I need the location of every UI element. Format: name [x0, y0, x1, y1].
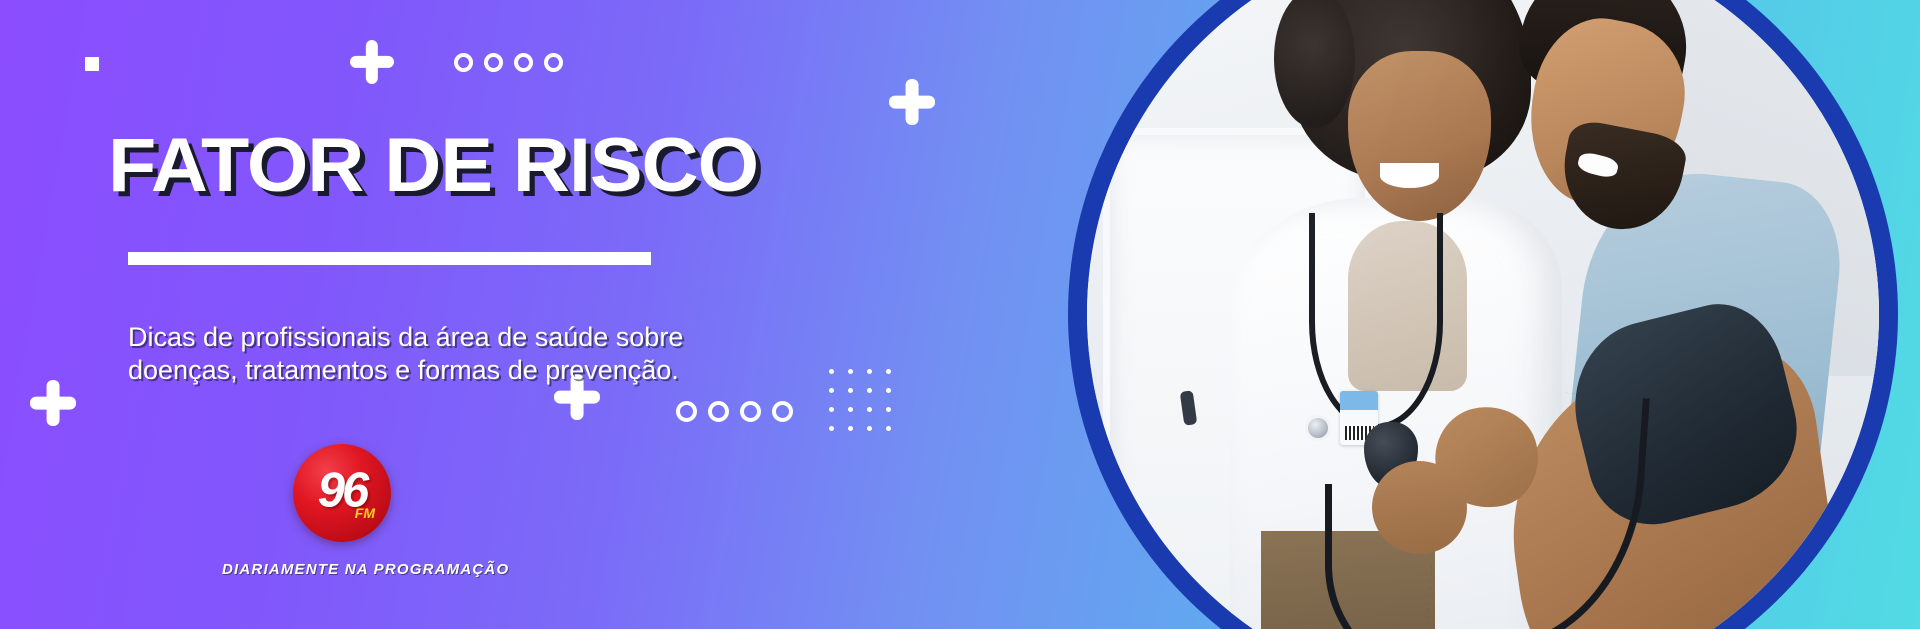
page-title: FATOR DE RISCO	[108, 128, 758, 204]
logo-suffix: FM	[355, 506, 375, 520]
doctor-smile	[1380, 163, 1439, 188]
radio-station-logo[interactable]: 96 FM DIARIAMENTE NA PROGRAMAÇÃO	[222, 444, 462, 578]
banner-content: FATOR DE RISCO Dicas de profissionais da…	[0, 0, 900, 629]
health-risk-factor-banner: FATOR DE RISCO Dicas de profissionais da…	[0, 0, 1920, 629]
logo-disc: 96 FM	[293, 444, 391, 542]
logo-tagline: DIARIAMENTE NA PROGRAMAÇÃO	[222, 561, 462, 578]
photo-panel	[1040, 0, 1920, 629]
stethoscope-bell	[1305, 415, 1331, 441]
clinic-photo	[1087, 0, 1879, 629]
photo-frame	[1087, 0, 1879, 629]
title-underline	[128, 252, 651, 265]
logo-number: 96	[293, 467, 391, 516]
banner-subtitle: Dicas de profissionais da área de saúde …	[128, 321, 748, 387]
